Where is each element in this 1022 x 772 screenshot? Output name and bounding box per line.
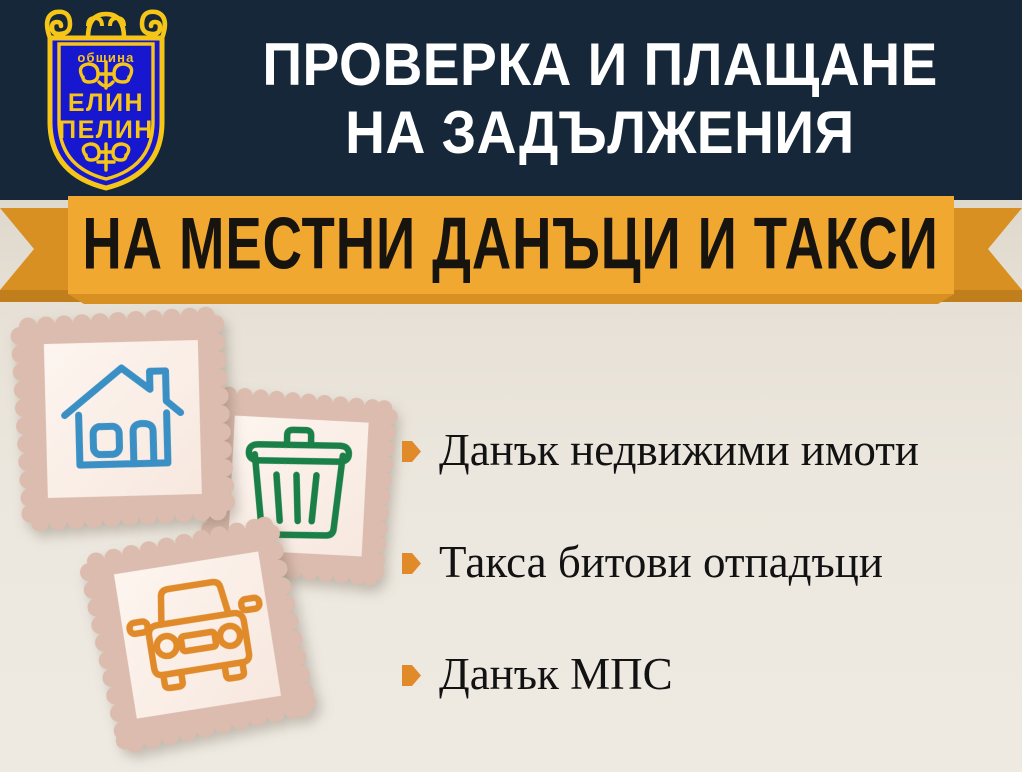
tax-types-list: Данък недвижими имоти Такса битови отпад…	[402, 425, 1012, 761]
crest-icon: община ЕЛИН ПЕЛИН	[26, 4, 186, 192]
title-line-2: НА ЗАДЪЛЖЕНИЯ	[345, 99, 855, 167]
poster-root: община ЕЛИН ПЕЛИН	[0, 0, 1022, 772]
bullet-arrow-icon	[402, 440, 421, 463]
vehicle-tax-stamp-graphic	[77, 514, 319, 756]
list-item-label: Данък МПС	[439, 649, 673, 699]
bullet-arrow-icon	[402, 552, 421, 575]
ribbon-banner: НА МЕСТНИ ДАНЪЦИ И ТАКСИ	[0, 196, 1022, 308]
list-item[interactable]: Данък МПС	[402, 649, 1012, 699]
ribbon-text-label: НА МЕСТНИ ДАНЪЦИ И ТАКСИ	[83, 208, 939, 281]
page-title: ПРОВЕРКА И ПЛАЩАНЕ НА ЗАДЪЛЖЕНИЯ	[190, 14, 1010, 184]
property-tax-stamp	[10, 306, 237, 538]
ribbon-body-shadow	[68, 294, 954, 304]
title-line-1: ПРОВЕРКА И ПЛАЩАНЕ	[262, 31, 937, 99]
header-bar: община ЕЛИН ПЕЛИН	[0, 0, 1022, 200]
list-item-label: Данък недвижими имоти	[439, 425, 919, 475]
list-item[interactable]: Такса битови отпадъци	[402, 537, 1012, 587]
coat-of-arms: община ЕЛИН ПЕЛИН	[26, 4, 186, 192]
list-item[interactable]: Данък недвижими имоти	[402, 425, 1012, 475]
property-tax-stamp-graphic	[10, 306, 237, 533]
svg-text:ПЕЛИН: ПЕЛИН	[58, 116, 154, 144]
svg-text:ЕЛИН: ЕЛИН	[68, 89, 144, 117]
ribbon-text: НА МЕСТНИ ДАНЪЦИ И ТАКСИ	[68, 196, 954, 294]
bullet-arrow-icon	[402, 664, 421, 687]
list-item-label: Такса битови отпадъци	[439, 537, 883, 587]
vehicle-tax-stamp	[77, 514, 320, 761]
